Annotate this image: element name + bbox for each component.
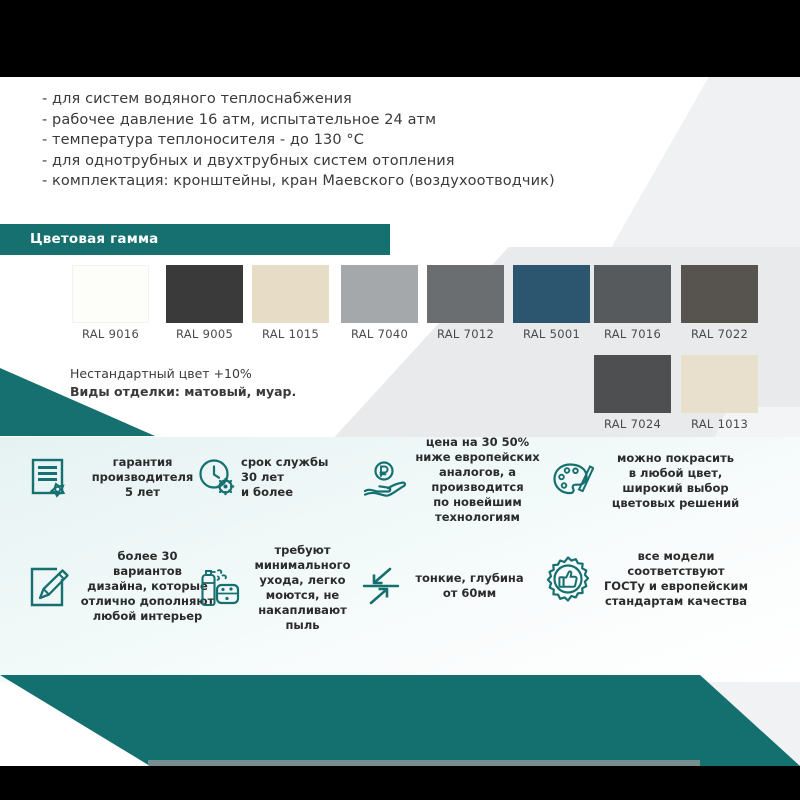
color-swatch[interactable]: RAL 7040 bbox=[341, 265, 418, 341]
color-swatch-row-1: RAL 9016RAL 9005RAL 1015RAL 7040RAL 7012… bbox=[0, 265, 800, 345]
pencil-design-icon bbox=[18, 565, 80, 609]
color-swatch-label: RAL 7022 bbox=[681, 327, 758, 341]
color-swatch-chip bbox=[166, 265, 243, 323]
color-swatch-label: RAL 9016 bbox=[72, 327, 149, 341]
color-swatch-label: RAL 5001 bbox=[513, 327, 590, 341]
spec-bullet-list: - для систем водяного теплоснабжения - р… bbox=[42, 89, 662, 192]
finish-types-note: Виды отделки: матовый, муар. bbox=[70, 383, 296, 401]
feature-label: требуют минимального ухода, легко моются… bbox=[245, 543, 360, 633]
spec-bullet: - температура теплоносителя - до 130 °C bbox=[42, 130, 662, 151]
color-swatch-chip bbox=[594, 355, 671, 413]
color-swatch[interactable]: RAL 1013 bbox=[681, 355, 758, 431]
spec-bullet: - рабочее давление 16 атм, испытательное… bbox=[42, 110, 662, 131]
color-swatch[interactable]: RAL 7022 bbox=[681, 265, 758, 341]
color-swatch-chip bbox=[252, 265, 329, 323]
color-swatch-label: RAL 1015 bbox=[252, 327, 329, 341]
color-swatch-label: RAL 7016 bbox=[594, 327, 671, 341]
feature-item: более 30 вариантов дизайна, которые отли… bbox=[18, 549, 215, 624]
color-swatch[interactable]: RAL 7016 bbox=[594, 265, 671, 341]
color-swatch-chip bbox=[341, 265, 418, 323]
feature-label: срок службы 30 лет и более bbox=[241, 455, 351, 500]
feature-item: требуют минимального ухода, легко моются… bbox=[195, 543, 360, 633]
spec-bullet: - для систем водяного теплоснабжения bbox=[42, 89, 662, 110]
color-swatch-label: RAL 7012 bbox=[427, 327, 504, 341]
color-swatch-chip bbox=[513, 265, 590, 323]
color-swatch-label: RAL 7040 bbox=[341, 327, 418, 341]
color-section-title: Цветовая гамма bbox=[30, 231, 159, 247]
depth-arrows-icon bbox=[355, 565, 407, 607]
color-swatch-chip bbox=[681, 265, 758, 323]
feature-item: гарантия производителя 5 лет bbox=[18, 455, 205, 500]
feature-label: можно покрасить в любой цвет, широкий вы… bbox=[598, 451, 753, 511]
color-section-header: Цветовая гамма bbox=[0, 224, 390, 255]
spec-bullet: - для однотрубных и двухтрубных систем о… bbox=[42, 151, 662, 172]
feature-item: срок службы 30 лет и более bbox=[195, 455, 351, 500]
color-swatch[interactable]: RAL 9005 bbox=[166, 265, 243, 341]
color-swatch[interactable]: RAL 9016 bbox=[72, 265, 149, 341]
certificate-icon bbox=[18, 457, 80, 499]
slide-page: - для систем водяного теплоснабжения - р… bbox=[0, 0, 800, 800]
feature-label: тонкие, глубина от 60мм bbox=[407, 571, 532, 601]
bottom-teal-band bbox=[0, 675, 800, 766]
slide-canvas: - для систем водяного теплоснабжения - р… bbox=[0, 77, 800, 766]
bottom-band-shadow bbox=[148, 760, 700, 766]
color-swatch-chip bbox=[427, 265, 504, 323]
feature-label: цена на 30 50% ниже европейских аналогов… bbox=[410, 435, 545, 525]
feature-item: цена на 30 50% ниже европейских аналогов… bbox=[360, 435, 545, 525]
finish-note: Нестандартный цвет +10% Виды отделки: ма… bbox=[70, 365, 296, 401]
color-swatch-chip bbox=[681, 355, 758, 413]
letterbox-top bbox=[0, 0, 800, 77]
hand-ruble-icon bbox=[360, 460, 410, 500]
thumbs-up-badge-icon bbox=[540, 556, 596, 602]
features-panel: гарантия производителя 5 летсрок службы … bbox=[0, 437, 800, 682]
feature-item: тонкие, глубина от 60мм bbox=[355, 565, 532, 607]
feature-label: гарантия производителя 5 лет bbox=[80, 455, 205, 500]
color-swatch-label: RAL 1013 bbox=[681, 417, 758, 431]
color-swatch[interactable]: RAL 1015 bbox=[252, 265, 329, 341]
color-swatch[interactable]: RAL 5001 bbox=[513, 265, 590, 341]
spec-bullet: - комплектация: кронштейны, кран Маевско… bbox=[42, 171, 662, 192]
letterbox-bottom bbox=[0, 766, 800, 800]
feature-label: все модели соответствуют ГОСТу и европей… bbox=[596, 549, 756, 609]
palette-icon bbox=[548, 461, 598, 501]
clock-gear-icon bbox=[195, 457, 241, 499]
nonstandard-color-note: Нестандартный цвет +10% bbox=[70, 365, 296, 383]
color-swatch[interactable]: RAL 7012 bbox=[427, 265, 504, 341]
color-swatch-chip bbox=[72, 265, 149, 323]
color-swatch[interactable]: RAL 7024 bbox=[594, 355, 671, 431]
color-swatch-label: RAL 9005 bbox=[166, 327, 243, 341]
spray-sponge-icon bbox=[195, 567, 245, 609]
color-swatch-label: RAL 7024 bbox=[594, 417, 671, 431]
feature-item: все модели соответствуют ГОСТу и европей… bbox=[540, 549, 756, 609]
color-swatch-chip bbox=[594, 265, 671, 323]
feature-item: можно покрасить в любой цвет, широкий вы… bbox=[548, 451, 753, 511]
